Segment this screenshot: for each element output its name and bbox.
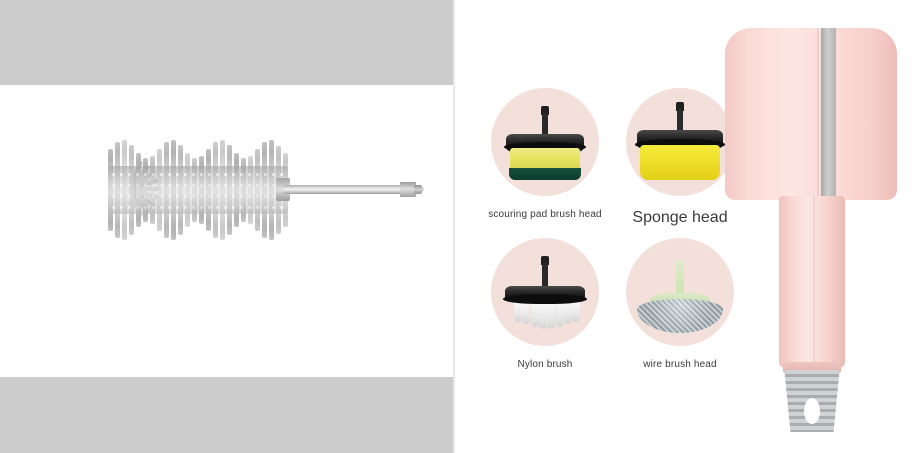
top-gray-band xyxy=(0,0,453,85)
core-dot xyxy=(248,173,251,176)
core-dot xyxy=(208,184,211,187)
device-body-seam xyxy=(817,28,819,200)
core-dot xyxy=(248,206,251,209)
core-dot xyxy=(152,206,155,209)
core-dot xyxy=(176,206,179,209)
core-dot xyxy=(144,173,147,176)
brush-shaft xyxy=(283,185,411,194)
device-handle-seam xyxy=(813,196,815,368)
scouring-layer xyxy=(509,168,581,180)
device-motor-body xyxy=(725,28,897,200)
wire-brush-circle xyxy=(626,238,734,346)
core-dot xyxy=(232,206,235,209)
core-dot xyxy=(184,184,187,187)
core-dot xyxy=(200,184,203,187)
core-dot xyxy=(272,184,275,187)
core-dot xyxy=(256,206,259,209)
core-dot xyxy=(216,195,219,198)
core-dot xyxy=(208,173,211,176)
core-dot xyxy=(200,206,203,209)
core-dot xyxy=(144,195,147,198)
core-dot xyxy=(168,195,171,198)
core-dot xyxy=(192,173,195,176)
core-dot xyxy=(264,173,267,176)
head-label-scouring-pad: scouring pad brush head xyxy=(475,209,615,220)
head-cell-nylon: Nylon brush xyxy=(475,238,615,370)
core-dot xyxy=(120,184,123,187)
nylon-bristle xyxy=(556,300,564,327)
core-dot xyxy=(280,206,283,209)
core-dot xyxy=(160,184,163,187)
core-dot xyxy=(136,206,139,209)
core-dot xyxy=(176,184,179,187)
core-dot xyxy=(168,173,171,176)
core-dot xyxy=(152,173,155,176)
core-dot xyxy=(208,195,211,198)
core-dot xyxy=(200,195,203,198)
core-dot xyxy=(144,206,147,209)
sponge-layer xyxy=(640,145,720,180)
core-dot xyxy=(160,173,163,176)
core-dot xyxy=(248,195,251,198)
brush-shaft-end xyxy=(414,185,424,194)
nylon-brush-circle xyxy=(491,238,599,346)
core-dot xyxy=(144,184,147,187)
sponge-head-circle xyxy=(626,88,734,196)
core-dot xyxy=(184,195,187,198)
core-dot xyxy=(272,206,275,209)
core-dot xyxy=(136,184,139,187)
core-dot xyxy=(136,173,139,176)
core-dot xyxy=(240,195,243,198)
core-dot xyxy=(184,206,187,209)
core-dot xyxy=(256,173,259,176)
cap-ring-icon xyxy=(503,294,587,304)
head-label-nylon: Nylon brush xyxy=(475,359,615,370)
core-dot xyxy=(232,195,235,198)
core-dot xyxy=(224,206,227,209)
core-dot xyxy=(256,195,259,198)
device-hang-hole xyxy=(804,398,820,424)
core-dot xyxy=(208,206,211,209)
sponge-layer xyxy=(510,148,580,170)
core-dot xyxy=(152,184,155,187)
core-dot xyxy=(128,173,131,176)
nylon-bristle xyxy=(539,300,547,329)
head-cell-scouring-pad: scouring pad brush head xyxy=(475,88,615,220)
core-dot xyxy=(136,195,139,198)
device-gray-band xyxy=(821,28,836,200)
core-dot xyxy=(192,195,195,198)
core-dot xyxy=(240,184,243,187)
bottle-brush-product xyxy=(78,140,428,240)
nylon-bristle xyxy=(572,300,580,322)
core-dot xyxy=(184,173,187,176)
core-dot xyxy=(224,195,227,198)
core-dot xyxy=(112,206,115,209)
core-dot xyxy=(176,173,179,176)
core-dot xyxy=(160,206,163,209)
device-handle xyxy=(779,196,845,368)
core-dot xyxy=(192,206,195,209)
core-dot xyxy=(264,195,267,198)
core-dot xyxy=(168,184,171,187)
core-dot xyxy=(192,184,195,187)
core-dot xyxy=(200,173,203,176)
handheld-scrubber-device xyxy=(725,28,915,438)
core-dot xyxy=(120,206,123,209)
product-image-canvas: scouring pad brush head Sponge head Ny xyxy=(0,0,919,453)
brush-core xyxy=(108,166,288,214)
core-dot xyxy=(128,184,131,187)
bottle-brush-panel xyxy=(0,0,453,453)
core-dot xyxy=(112,184,115,187)
core-dot xyxy=(216,184,219,187)
core-dot xyxy=(232,173,235,176)
core-dot xyxy=(264,206,267,209)
brush-hex-bit xyxy=(400,182,416,197)
core-dot xyxy=(216,206,219,209)
core-dot xyxy=(120,195,123,198)
wire-mesh-layer xyxy=(637,299,723,333)
core-dot xyxy=(152,195,155,198)
core-dot xyxy=(128,206,131,209)
core-dot xyxy=(224,184,227,187)
core-dot xyxy=(272,195,275,198)
core-dot xyxy=(240,206,243,209)
core-dot xyxy=(120,173,123,176)
nylon-bristle xyxy=(547,300,555,329)
core-dot xyxy=(232,184,235,187)
core-dot xyxy=(128,195,131,198)
core-dot xyxy=(248,184,251,187)
core-dot xyxy=(176,195,179,198)
core-dot xyxy=(168,206,171,209)
core-dot xyxy=(256,184,259,187)
core-dot xyxy=(224,173,227,176)
core-dot xyxy=(216,173,219,176)
core-dot xyxy=(272,173,275,176)
attachment-heads-panel: scouring pad brush head Sponge head Ny xyxy=(455,0,919,453)
core-dot xyxy=(264,184,267,187)
bottom-gray-band xyxy=(0,377,453,453)
core-dot xyxy=(240,173,243,176)
core-dot xyxy=(112,195,115,198)
core-dot xyxy=(280,173,283,176)
core-dot xyxy=(160,195,163,198)
core-dot xyxy=(112,173,115,176)
scouring-pad-circle xyxy=(491,88,599,196)
